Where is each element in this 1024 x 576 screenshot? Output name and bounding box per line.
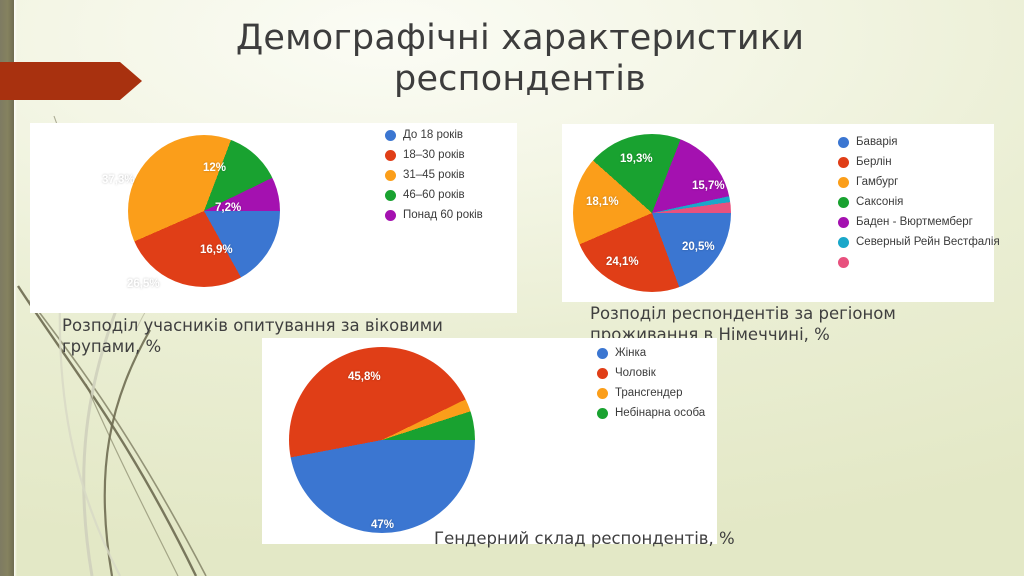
legend-item-label: 46–60 років xyxy=(403,189,465,201)
page-title: Демографічні характеристики респондентів xyxy=(150,18,890,101)
legend-item: Саксонія xyxy=(838,195,1000,209)
legend-item-label: Баварія xyxy=(856,136,898,148)
legend-item: Трансгендер xyxy=(597,386,705,400)
legend-item: 18–30 років xyxy=(385,148,483,162)
pie-chart-gender xyxy=(289,347,475,533)
legend-item: Баден - Вюртмемберг xyxy=(838,215,1000,229)
legend-item-label: Понад 60 років xyxy=(403,209,483,221)
pie-slice-label: 7,2% xyxy=(215,202,241,214)
legend-swatch-icon xyxy=(838,257,849,268)
decorative-arrow-banner xyxy=(0,62,120,100)
pie-slice-label: 45,8% xyxy=(348,371,381,383)
pie-slice-label: 15,7% xyxy=(692,180,725,192)
legend-item: Жінка xyxy=(597,346,705,360)
legend-swatch-icon xyxy=(385,210,396,221)
legend-item-label: До 18 років xyxy=(403,129,463,141)
legend-item-label: Трансгендер xyxy=(615,387,682,399)
legend-swatch-icon xyxy=(385,150,396,161)
legend-item: 46–60 років xyxy=(385,188,483,202)
legend-swatch-icon xyxy=(597,408,608,419)
legend-item: Баварія xyxy=(838,135,1000,149)
pie-chart-age-groups xyxy=(128,135,280,287)
legend-swatch-icon xyxy=(838,137,849,148)
legend-swatch-icon xyxy=(597,368,608,379)
legend-swatch-icon xyxy=(597,348,608,359)
legend-swatch-icon xyxy=(838,197,849,208)
legend-item xyxy=(838,255,1000,269)
legend-item-label: 31–45 років xyxy=(403,169,465,181)
legend-item-label: Гамбург xyxy=(856,176,898,188)
legend-item: Понад 60 років xyxy=(385,208,483,222)
pie-slice-label: 16,9% xyxy=(200,244,233,256)
legend-item: Чоловік xyxy=(597,366,705,380)
pie-slice-label: 12% xyxy=(203,162,226,174)
legend-item: Северный Рейн Вестфалія xyxy=(838,235,1000,249)
pie-slice-label: 20,5% xyxy=(682,241,715,253)
legend-item-label: 18–30 років xyxy=(403,149,465,161)
legend-item-label: Баден - Вюртмемберг xyxy=(856,216,973,228)
slide-canvas: Демографічні характеристики респондентів… xyxy=(0,0,1024,576)
pie-slice-label: 26,5% xyxy=(127,278,160,290)
pie-slice-label: 19,3% xyxy=(620,153,653,165)
legend-item: 31–45 років xyxy=(385,168,483,182)
legend-item-label: Берлін xyxy=(856,156,892,168)
legend-item-label: Саксонія xyxy=(856,196,903,208)
legend-swatch-icon xyxy=(838,157,849,168)
legend-item-label: Небінарна особа xyxy=(615,407,705,419)
legend-swatch-icon xyxy=(838,217,849,228)
legend-item: Небінарна особа xyxy=(597,406,705,420)
caption-gender: Гендерний склад респондентів, % xyxy=(434,528,814,549)
pie-slice-label: 18,1% xyxy=(586,196,619,208)
legend-age-groups: До 18 років18–30 років31–45 років46–60 р… xyxy=(385,128,483,228)
legend-swatch-icon xyxy=(838,177,849,188)
legend-item: До 18 років xyxy=(385,128,483,142)
legend-swatch-icon xyxy=(385,130,396,141)
legend-item: Гамбург xyxy=(838,175,1000,189)
legend-item: Берлін xyxy=(838,155,1000,169)
pie-slice-label: 37,3% xyxy=(102,174,135,186)
legend-swatch-icon xyxy=(385,170,396,181)
pie-slice-label: 47% xyxy=(371,519,394,531)
legend-gender: ЖінкаЧоловікТрансгендерНебінарна особа xyxy=(597,346,705,426)
legend-item-label: Жінка xyxy=(615,347,646,359)
legend-item-label: Чоловік xyxy=(615,367,656,379)
legend-item-label: Северный Рейн Вестфалія xyxy=(856,236,1000,248)
legend-swatch-icon xyxy=(597,388,608,399)
legend-swatch-icon xyxy=(385,190,396,201)
legend-regions: БаваріяБерлінГамбургСаксоніяБаден - Вюрт… xyxy=(838,135,1000,275)
legend-swatch-icon xyxy=(838,237,849,248)
pie-slice-label: 24,1% xyxy=(606,256,639,268)
